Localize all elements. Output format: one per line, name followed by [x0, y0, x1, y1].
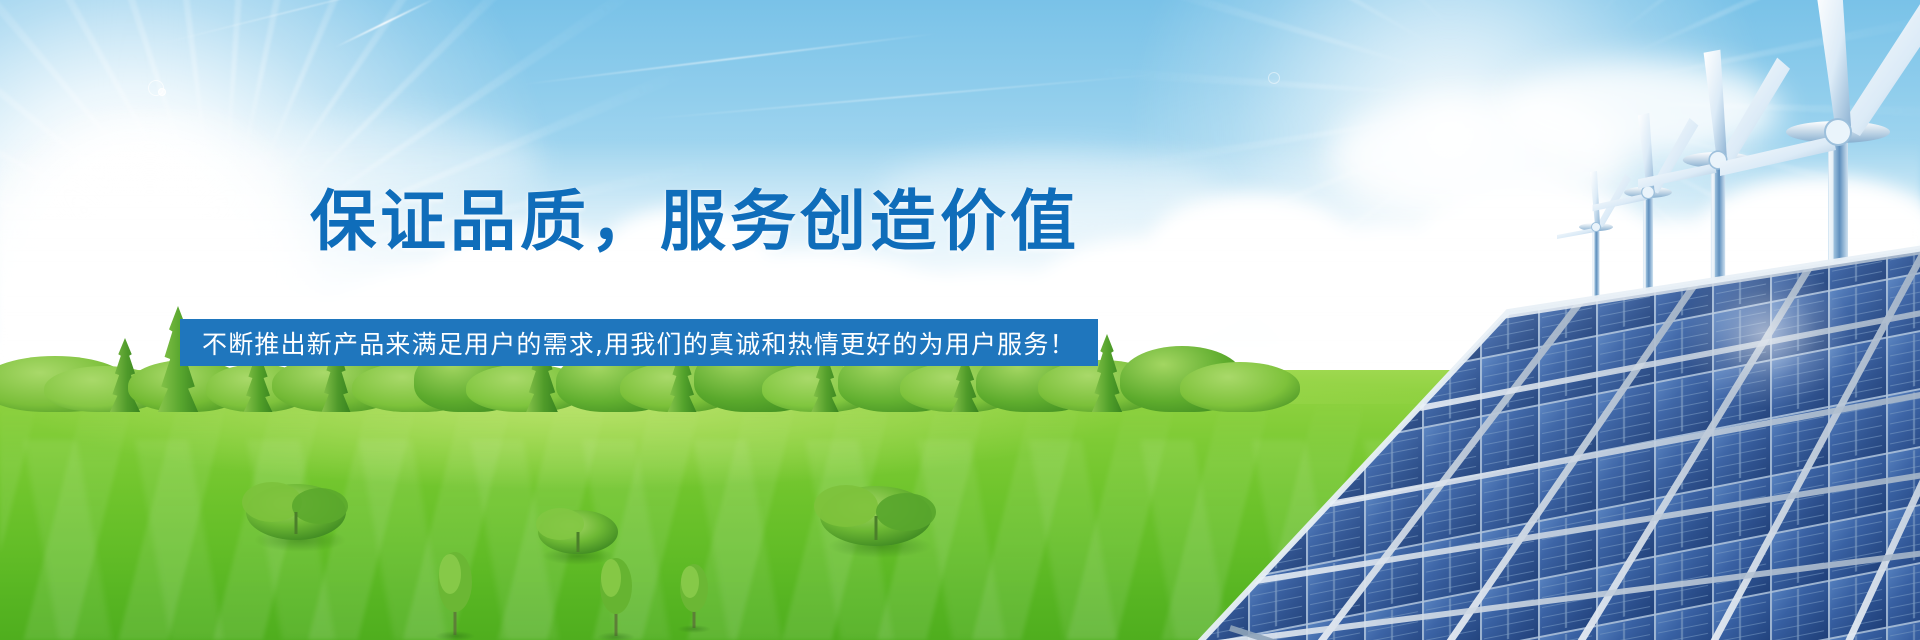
lens-flare-ring	[1268, 72, 1280, 84]
hero-banner: 保证品质，服务创造价值 不断推出新产品来满足用户的需求,用我们的真诚和热情更好的…	[0, 0, 1920, 640]
lens-flare-dot	[158, 88, 166, 96]
solar-panel-face	[1190, 216, 1920, 640]
solar-panel-array	[1190, 216, 1920, 640]
subtitle-text: 不断推出新产品来满足用户的需求,用我们的真诚和热情更好的为用户服务！	[202, 325, 1076, 361]
subtitle-banner: 不断推出新产品来满足用户的需求,用我们的真诚和热情更好的为用户服务！	[180, 319, 1098, 366]
page-title: 保证品质，服务创造价值	[310, 168, 1080, 264]
